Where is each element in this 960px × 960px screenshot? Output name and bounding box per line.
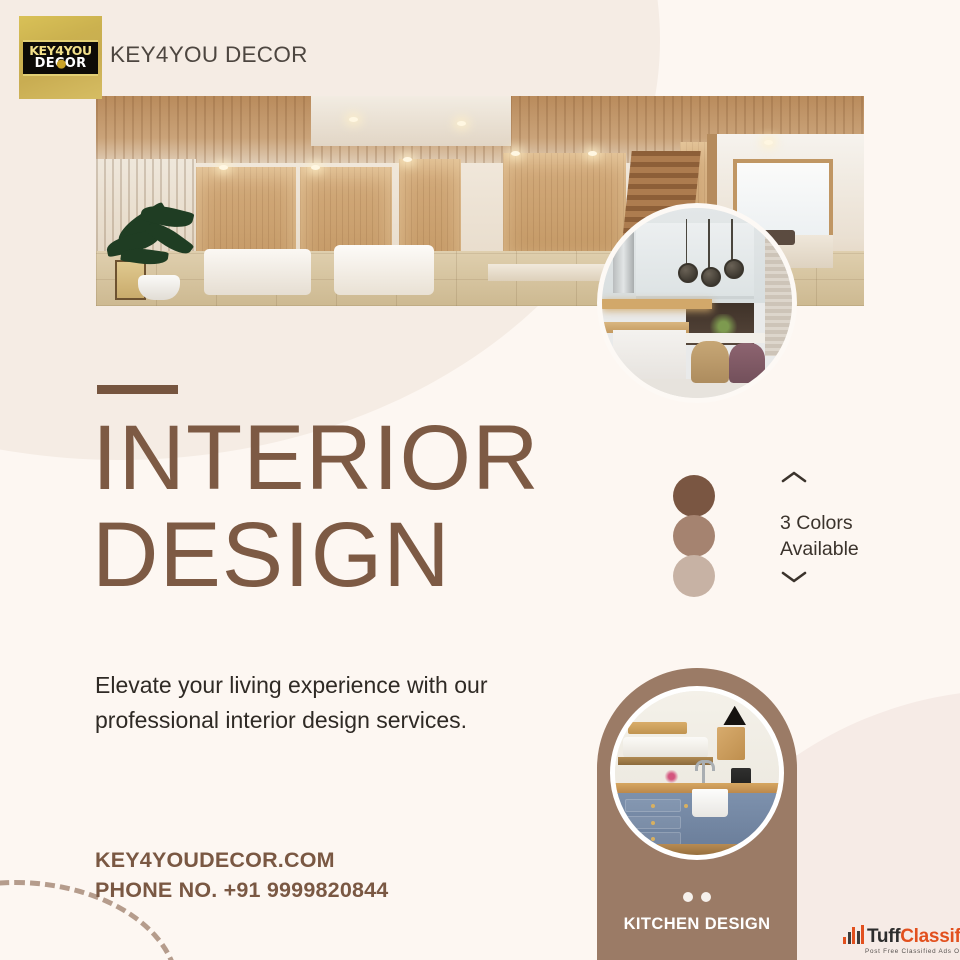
poster-canvas: KEY4YOU DECOR KEY4YOU DECOR INTERIOR DES… <box>0 0 960 960</box>
website-url[interactable]: KEY4YOUDECOR.COM <box>95 846 388 876</box>
chevron-up-button[interactable] <box>778 470 958 484</box>
watermark-name-part1: Tuff <box>867 927 900 946</box>
chevron-down-button[interactable] <box>778 570 807 584</box>
watermark-name-part2: Classified <box>900 927 960 946</box>
title-accent-dash <box>97 385 178 394</box>
chevron-down-icon <box>781 570 807 584</box>
logo-line-2: DECOR <box>23 57 98 71</box>
kitchen-design-card[interactable]: KITCHEN DESIGN <box>597 668 797 960</box>
tuffclassified-watermark[interactable]: Tuff Classified Post Free Classified Ads… <box>843 925 960 955</box>
brand-name: KEY4YOU DECOR <box>110 42 308 68</box>
phone-number[interactable]: PHONE NO. +91 9999820844 <box>95 876 388 906</box>
chevron-up-icon <box>781 470 807 484</box>
description-text: Elevate your living experience with our … <box>95 668 495 738</box>
logo-dot-icon <box>56 59 65 68</box>
color-swatch-list <box>673 475 715 595</box>
circular-kitchen-inset-image <box>597 203 797 403</box>
watermark-tagline: Post Free Classified Ads Online <box>865 948 960 955</box>
bar-chart-icon <box>843 925 864 944</box>
kitchen-card-image <box>610 686 784 860</box>
color-swatch-2[interactable] <box>673 515 715 557</box>
header: KEY4YOU DECOR KEY4YOU DECOR <box>0 0 960 115</box>
kitchen-card-dots <box>597 892 797 902</box>
kitchen-card-label: KITCHEN DESIGN <box>597 915 797 934</box>
contact-block: KEY4YOUDECOR.COM PHONE NO. +91 999982084… <box>95 846 388 905</box>
page-title: INTERIOR DESIGN <box>92 410 540 604</box>
color-swatch-3[interactable] <box>673 555 715 597</box>
color-swatch-1[interactable] <box>673 475 715 517</box>
brand-logo[interactable]: KEY4YOU DECOR <box>19 16 102 99</box>
dot-icon-1 <box>683 892 693 902</box>
colors-available-label: 3 Colors Available <box>780 510 859 562</box>
dot-icon-2 <box>701 892 711 902</box>
